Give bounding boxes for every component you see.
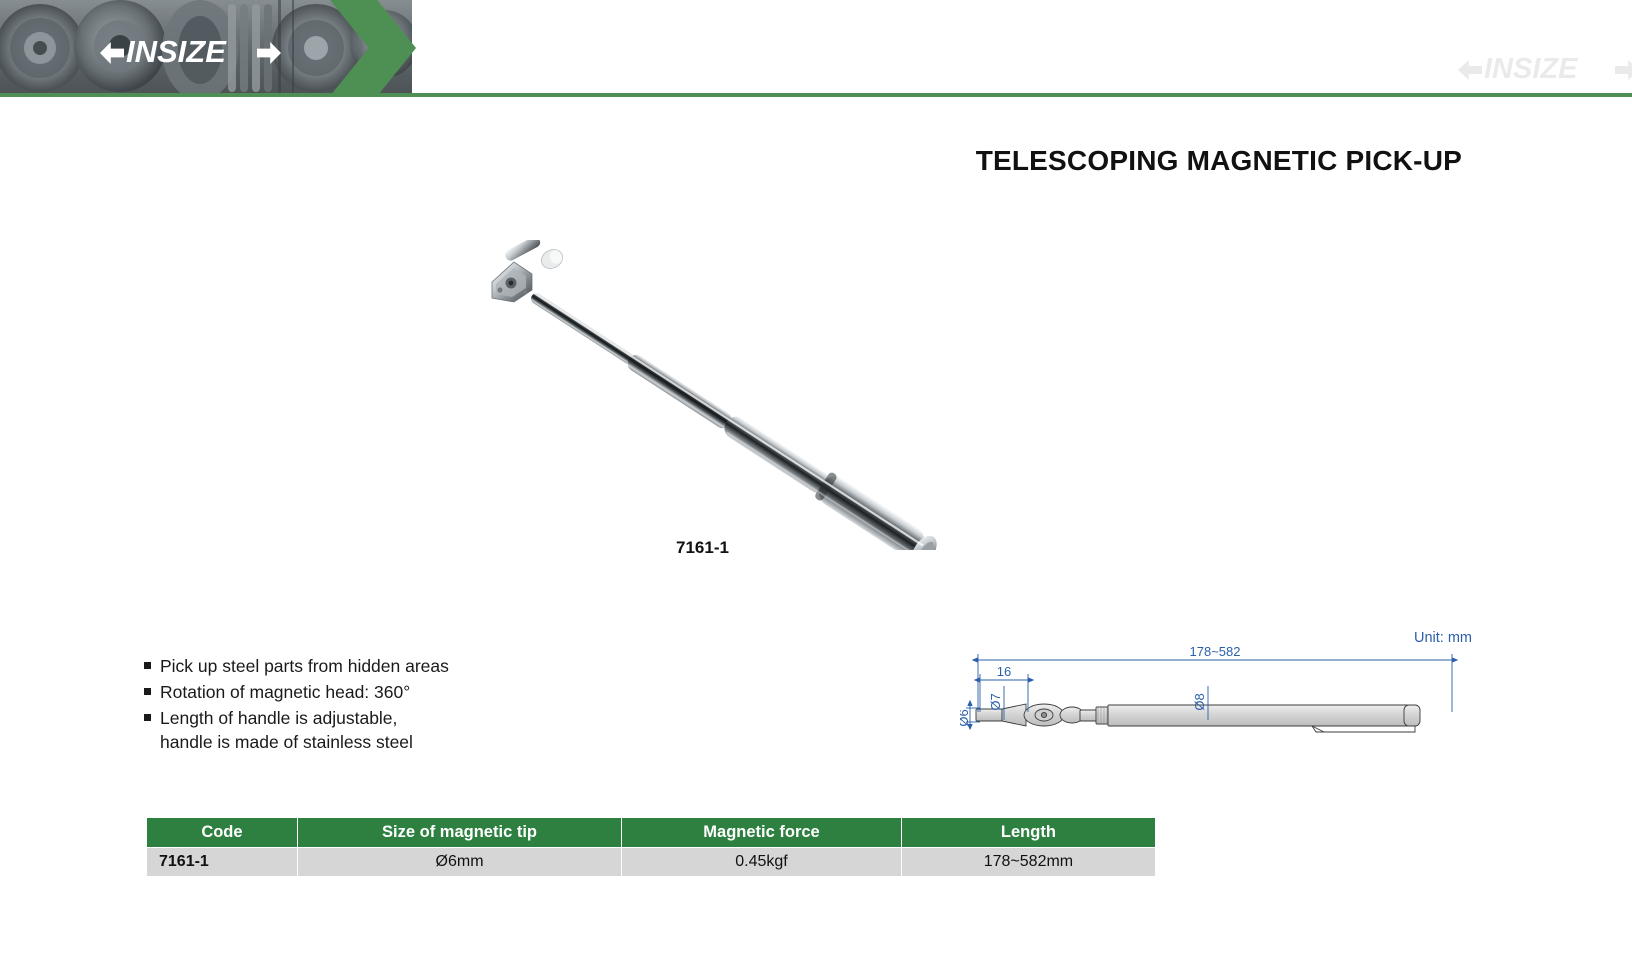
cell-code: 7161-1 — [147, 848, 298, 877]
product-model-label: 7161-1 — [676, 538, 729, 558]
feature-item: Pick up steel parts from hidden areas — [144, 654, 664, 678]
cell-magnetic-force: 0.45kgf — [622, 848, 902, 877]
unit-label: Unit: mm — [1414, 630, 1472, 646]
header-green-rule — [0, 93, 1632, 97]
feature-item: Length of handle is adjustable, handle i… — [144, 706, 664, 754]
insize-watermark-logo: INSIZE — [1458, 55, 1632, 89]
bullet-square-icon — [144, 662, 151, 669]
feature-text-continuation: handle is made of stainless steel — [160, 730, 413, 754]
column-header-code: Code — [147, 818, 298, 848]
table-header-row: Code Size of magnetic tip Magnetic force… — [147, 818, 1156, 848]
column-header-size: Size of magnetic tip — [297, 818, 621, 848]
dim-collar: Ø7 — [988, 693, 1003, 710]
feature-text: Pick up steel parts from hidden areas — [160, 654, 449, 678]
dim-overall: 178~582 — [1190, 644, 1241, 659]
watermark-wordmark: INSIZE — [1484, 53, 1577, 86]
specification-table: Code Size of magnetic tip Magnetic force… — [146, 817, 1156, 877]
column-header-length: Length — [901, 818, 1155, 848]
watermark-left-arrow-icon — [1458, 60, 1482, 80]
column-header-force: Magnetic force — [622, 818, 902, 848]
cell-length: 178~582mm — [901, 848, 1155, 877]
dim-tip-len: 16 — [997, 664, 1011, 679]
dimension-drawing-graphic: 178~582 16 Ø7 Ø8 Ø6 — [960, 628, 1480, 750]
feature-item: Rotation of magnetic head: 360° — [144, 680, 664, 704]
dimension-drawing: Unit: mm — [960, 628, 1480, 750]
feature-text: Rotation of magnetic head: 360° — [160, 680, 410, 704]
dim-handle: Ø8 — [1192, 693, 1207, 710]
bullet-square-icon — [144, 714, 151, 721]
logo-left-arrow-icon — [100, 42, 124, 64]
table-row: 7161-1 Ø6mm 0.45kgf 178~582mm — [147, 848, 1156, 877]
logo-right-arrow-icon — [257, 42, 281, 64]
feature-text: Length of handle is adjustable, — [160, 706, 413, 730]
page-title: TELESCOPING MAGNETIC PICK-UP — [976, 145, 1462, 177]
cell-size-of-magnetic-tip: Ø6mm — [297, 848, 621, 877]
dim-tip-dia: Ø6 — [960, 709, 971, 726]
insize-logo[interactable]: INSIZE — [100, 36, 280, 72]
bullet-square-icon — [144, 688, 151, 695]
page-header: INSIZE INSIZE — [0, 0, 1632, 99]
features-list: Pick up steel parts from hidden areas Ro… — [144, 654, 664, 756]
product-photo — [470, 240, 1050, 550]
watermark-right-arrow-icon — [1615, 60, 1632, 80]
logo-wordmark: INSIZE — [126, 34, 226, 70]
product-photo-graphic — [470, 240, 1050, 550]
